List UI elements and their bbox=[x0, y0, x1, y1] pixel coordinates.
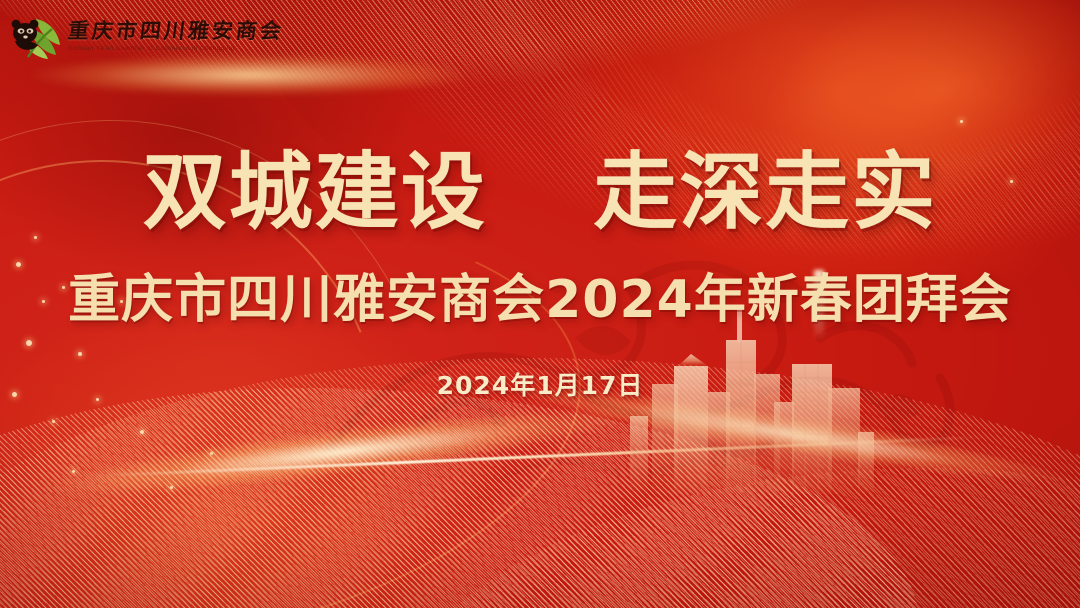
event-subtitle: 重庆市四川雅安商会2024年新春团拜会 bbox=[0, 274, 1080, 326]
main-title-right: 走深走实 bbox=[593, 143, 937, 241]
event-banner: 重庆市四川雅安商会 Sichuan Ya'an Chamber of Comme… bbox=[0, 0, 1080, 608]
chamber-logo[interactable]: 重庆市四川雅安商会 Sichuan Ya'an Chamber of Comme… bbox=[8, 8, 288, 64]
headline-block: 双城建设 走深走实 重庆市四川雅安商会2024年新春团拜会 2024年1月17日 bbox=[0, 150, 1080, 402]
logo-organization-cn: 重庆市四川雅安商会 bbox=[67, 20, 286, 42]
main-title: 双城建设 走深走实 bbox=[0, 150, 1080, 234]
logo-organization-en: Sichuan Ya'an Chamber of Commerce in Cho… bbox=[68, 46, 284, 52]
logo-text-block: 重庆市四川雅安商会 Sichuan Ya'an Chamber of Comme… bbox=[68, 20, 284, 51]
event-date: 2024年1月17日 bbox=[0, 366, 1080, 402]
panda-bamboo-logo-icon bbox=[8, 11, 62, 61]
main-title-left: 双城建设 bbox=[143, 143, 487, 241]
